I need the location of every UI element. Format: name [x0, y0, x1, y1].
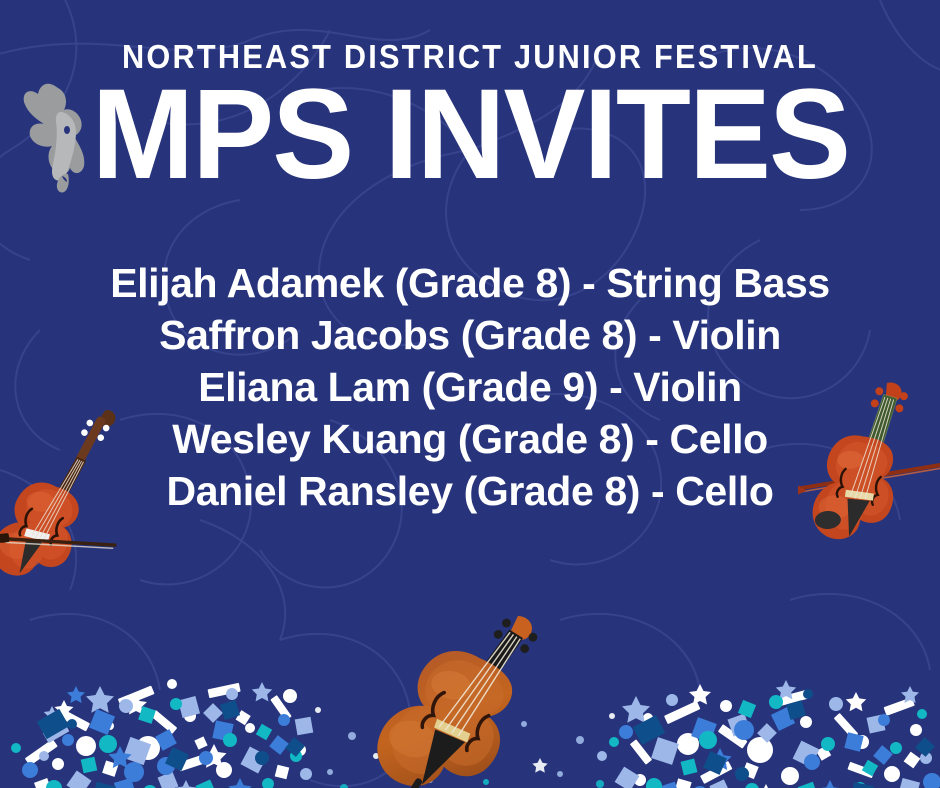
list-item: Eliana Lam (Grade 9) - Violin	[198, 362, 742, 412]
list-item: Elijah Adamek (Grade 8) - String Bass	[110, 258, 830, 308]
poster-canvas: NORTHEAST DISTRICT JUNIOR FESTIVAL MPS I…	[0, 0, 940, 788]
title-block: MPS INVITES	[0, 76, 940, 194]
mustang-head-logo-icon	[18, 78, 98, 194]
honoree-list: Elijah Adamek (Grade 8) - String Bass Sa…	[0, 258, 940, 516]
list-item: Wesley Kuang (Grade 8) - Cello	[172, 414, 768, 464]
page-title: MPS INVITES	[91, 71, 848, 199]
list-item: Saffron Jacobs (Grade 8) - Violin	[159, 310, 781, 360]
double-bass-icon	[368, 612, 573, 788]
list-item: Daniel Ransley (Grade 8) - Cello	[167, 466, 774, 516]
confetti-icon	[0, 598, 940, 788]
